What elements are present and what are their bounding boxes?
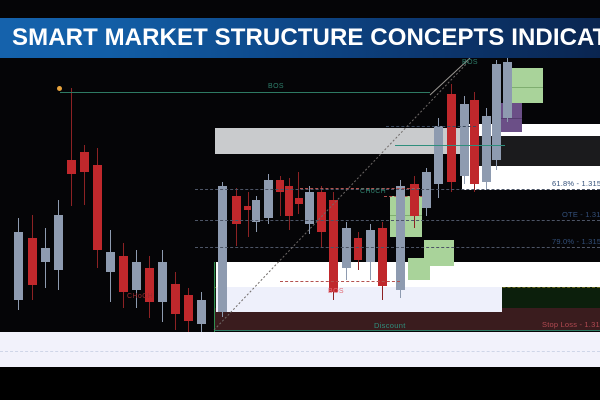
promo-banner: SMART MARKET STRUCTURE CONCEPTS INDICATO… [0,18,600,58]
label-stop-loss: Stop Loss - 1.31 [542,321,600,329]
label-bos-lower: BOS [328,288,344,295]
fib-line-790 [195,247,600,248]
label-choch-lower: CHoCH [127,293,153,300]
label-discount: Discount [374,322,406,330]
page-title: SMART MARKET STRUCTURE CONCEPTS INDICATO… [0,26,600,50]
bos-upper-dashed [386,126,476,127]
swing-high-marker [57,86,62,91]
discount-zone-border [214,330,600,331]
tradingview-chart: BOS BOS CHoCH CHoCH BOS 61.8% - 1.315 OT… [0,0,600,400]
fib-label-618: 61.8% - 1.315 [552,180,600,188]
bottom-white-band [0,332,600,367]
trade-panel-white [216,286,502,312]
entry-vertical-line [214,262,215,332]
equal-high-line [395,145,505,146]
bos-lower-dashed [280,281,400,282]
bullish-order-block-lower-2 [408,258,430,280]
label-bos-mid: BOS [268,83,284,90]
fib-label-ote: OTE - 1.315 [562,211,600,219]
label-choch-mid: CHoCH [360,188,386,195]
bottom-black-pane [0,367,600,400]
fib-line-ote [195,220,600,221]
bottom-band-midline [0,351,600,352]
fib-line-618 [195,189,600,190]
swing-high-line [60,92,430,93]
label-bos-upper: BOS [462,59,478,66]
promo-image-root: BOS BOS CHoCH CHoCH BOS 61.8% - 1.315 OT… [0,0,600,400]
fib-label-790: 79.0% - 1.315 [552,238,600,246]
